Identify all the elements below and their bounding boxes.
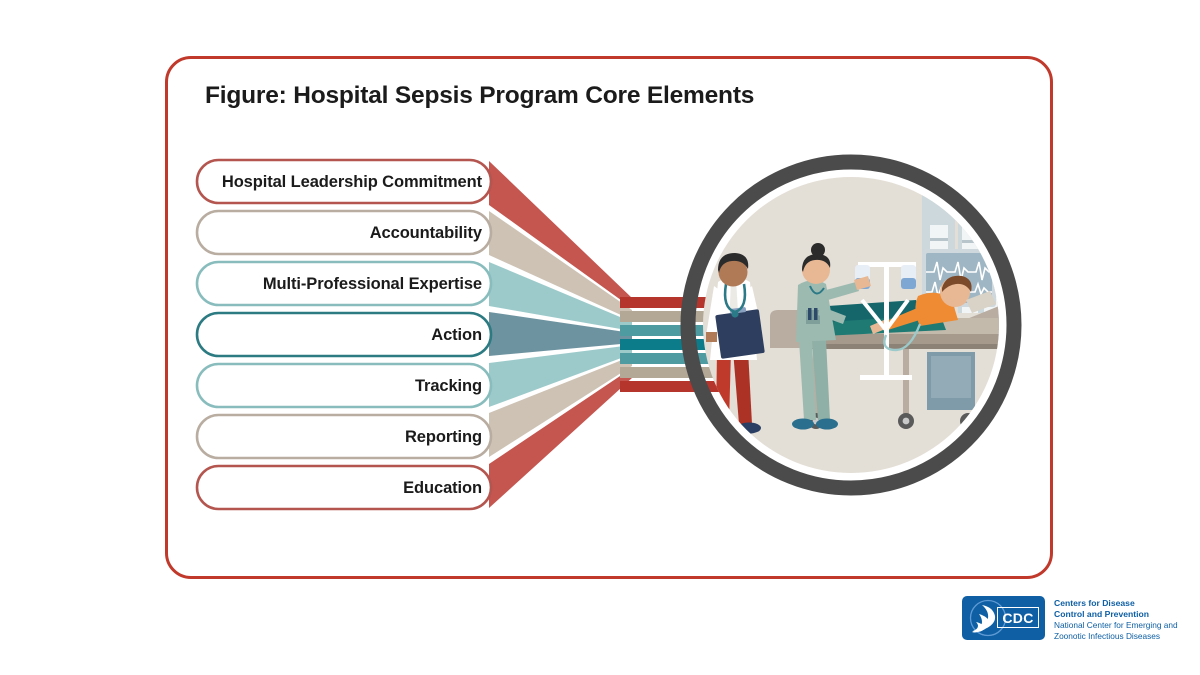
- cdc-logo[interactable]: CDC Centers for Disease Control and Prev…: [962, 596, 1194, 644]
- pill-label-tracking: Tracking: [415, 378, 482, 395]
- pill-row-1[interactable]: Accountability: [196, 211, 492, 255]
- pill-label-action: Action: [431, 327, 482, 344]
- pill-row-0[interactable]: Hospital Leadership Commitment: [196, 160, 492, 204]
- pill-row-6[interactable]: Education: [196, 466, 492, 510]
- cdc-line-1: Centers for Disease: [1054, 598, 1178, 609]
- pill-row-2[interactable]: Multi-Professional Expertise: [196, 262, 492, 306]
- cdc-line-4: Zoonotic Infectious Diseases: [1054, 631, 1178, 642]
- pill-row-3[interactable]: Action: [196, 313, 492, 357]
- pill-label-accountability: Accountability: [370, 225, 482, 242]
- pill-label-education: Education: [403, 480, 482, 497]
- cdc-line-3: National Center for Emerging and: [1054, 620, 1178, 631]
- cdc-box: CDC: [997, 607, 1039, 628]
- pill-label-multi-professional-expertise: Multi-Professional Expertise: [263, 276, 482, 293]
- figure-canvas: Figure: Hospital Sepsis Program Core Ele…: [0, 0, 1200, 675]
- cdc-wordmark: Centers for Disease Control and Preventi…: [1054, 596, 1178, 642]
- pill-row-5[interactable]: Reporting: [196, 415, 492, 459]
- cdc-emblem-text: CDC: [1002, 611, 1033, 625]
- cdc-line-2: Control and Prevention: [1054, 609, 1178, 620]
- cdc-emblem-icon: CDC: [962, 596, 1045, 640]
- pill-label-reporting: Reporting: [405, 429, 482, 446]
- pill-label-hospital-leadership-commitment: Hospital Leadership Commitment: [222, 174, 482, 191]
- page-title: Figure: Hospital Sepsis Program Core Ele…: [205, 82, 754, 110]
- pill-row-4[interactable]: Tracking: [196, 364, 492, 408]
